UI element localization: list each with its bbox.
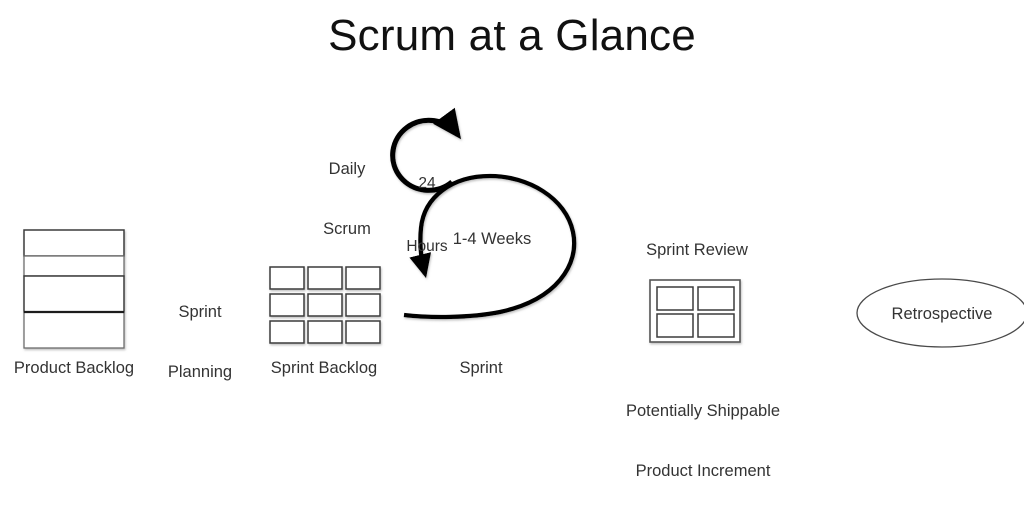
sprint-backlog-cell: [346, 294, 380, 316]
scrum-diagram: Scrum at a Glance: [0, 0, 1024, 432]
sprint-backlog-cell: [270, 294, 304, 316]
label-24-hours-line1: 24: [406, 173, 447, 194]
label-daily-scrum-line1: Daily: [323, 159, 371, 179]
product-backlog-row-4: [24, 312, 124, 348]
label-sprint-planning-line2: Planning: [168, 362, 232, 382]
label-24-hours-line2: Hours: [406, 236, 447, 257]
sprint-backlog-cell: [270, 267, 304, 289]
label-24-hours: 24 Hours: [406, 131, 447, 299]
diagram-canvas: [0, 0, 1024, 432]
label-product-increment-line2: Product Increment: [626, 461, 780, 481]
increment-cell: [698, 314, 734, 337]
label-daily-scrum: Daily Scrum: [323, 119, 371, 279]
label-sprint-planning-line1: Sprint: [168, 302, 232, 322]
label-sprint-backlog: Sprint Backlog: [271, 358, 377, 378]
sprint-backlog-cell: [308, 321, 342, 343]
label-sprint: Sprint: [459, 358, 502, 378]
label-product-increment: Potentially Shippable Product Increment: [626, 361, 780, 521]
label-sprint-review: Sprint Review: [646, 240, 748, 260]
label-sprint-duration: 1-4 Weeks: [453, 229, 532, 249]
increment-cell: [657, 287, 693, 310]
product-backlog-row-3: [24, 276, 124, 312]
product-backlog-row-2: [24, 256, 124, 276]
label-product-increment-line1: Potentially Shippable: [626, 401, 780, 421]
label-product-backlog: Product Backlog: [14, 358, 134, 378]
increment-cell: [698, 287, 734, 310]
sprint-backlog-cell: [270, 321, 304, 343]
product-increment-box: [650, 280, 740, 342]
label-daily-scrum-line2: Scrum: [323, 219, 371, 239]
sprint-backlog-cell: [308, 294, 342, 316]
sprint-backlog-cell: [346, 321, 380, 343]
product-backlog-row-1: [24, 230, 124, 256]
label-retrospective: Retrospective: [892, 304, 993, 324]
product-backlog-stack: [24, 230, 124, 348]
label-sprint-planning: Sprint Planning: [168, 262, 232, 422]
increment-cell: [657, 314, 693, 337]
